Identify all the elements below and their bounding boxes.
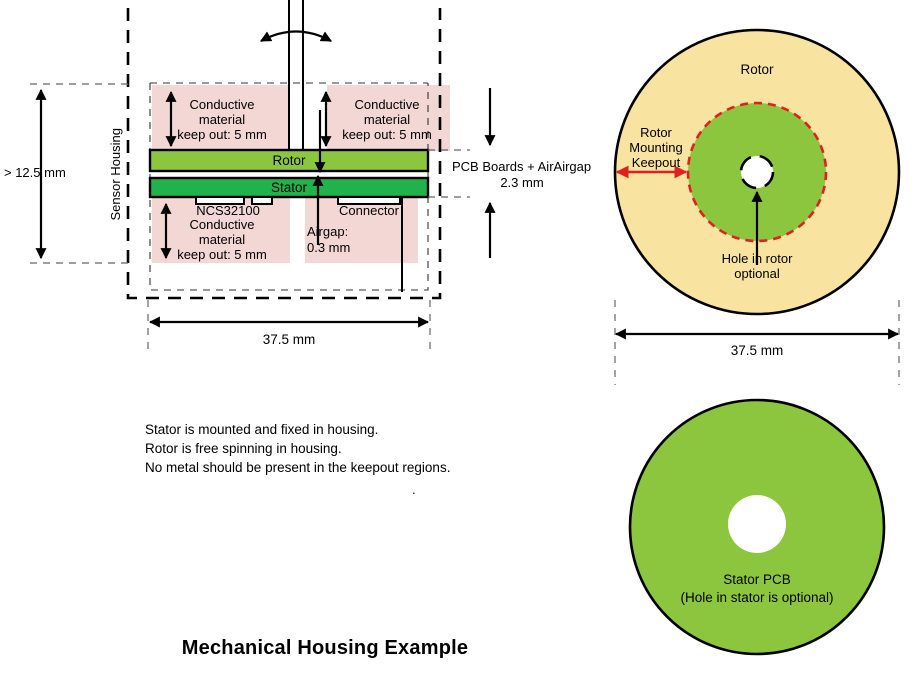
stator-pcb-view xyxy=(630,400,884,654)
rotor-disc-label: Rotor xyxy=(740,62,773,77)
stator-pcb-label-line1: Stator PCB xyxy=(723,572,791,587)
cross-section-width-label: 37.5 mm xyxy=(263,332,316,347)
pcb-stack-label-line1: PCB Boards + AirAirgap xyxy=(452,159,591,174)
note-line-1: Stator is mounted and fixed in housing. xyxy=(145,420,450,439)
keepout-top-right-label: Conductivematerialkeep out: 5 mm xyxy=(342,97,432,142)
note-line-2: Rotor is free spinning in housing. xyxy=(145,439,450,458)
rotor-shaft xyxy=(289,0,303,164)
housing-height-label: > 12.5 mm xyxy=(4,165,66,180)
stator-pcb-label-line2: (Hole in stator is optional) xyxy=(680,590,833,605)
hole-in-rotor-label-line1: Hole in rotor xyxy=(722,251,793,266)
page-title: Mechanical Housing Example xyxy=(182,637,468,660)
sensor-housing-label: Sensor Housing xyxy=(108,128,123,221)
rotor-width-label: 37.5 mm xyxy=(731,343,784,358)
airgap-label-line1: Airgap: xyxy=(307,224,348,239)
cross-section-width-dimension xyxy=(148,300,430,356)
rotor-mounting-keepout-label: RotorMountingKeepout xyxy=(629,125,682,170)
hole-in-rotor-label-line2: optional xyxy=(734,266,780,281)
notes-block: Stator is mounted and fixed in housing. … xyxy=(145,420,450,477)
pcb-stack-label-line2: 2.3 mm xyxy=(500,175,543,190)
stator-bar-label: Stator xyxy=(271,180,307,195)
ncs32100-label: NCS32100 xyxy=(196,203,260,218)
stray-dot-mark: . xyxy=(412,482,416,497)
keepout-top-left-label: Conductivematerialkeep out: 5 mm xyxy=(177,97,267,142)
rotation-arrow-icon xyxy=(261,32,331,42)
airgap-label-line2: 0.3 mm xyxy=(307,240,350,255)
connector-label: Connector xyxy=(339,203,399,218)
diagram-canvas: > 12.5 mm Sensor Housing Conductivemater… xyxy=(0,0,918,675)
rotor-bar-label: Rotor xyxy=(272,153,305,168)
note-line-3: No metal should be present in the keepou… xyxy=(145,458,450,477)
keepout-bottom-left-label: Conductivematerialkeep out: 5 mm xyxy=(177,217,267,262)
